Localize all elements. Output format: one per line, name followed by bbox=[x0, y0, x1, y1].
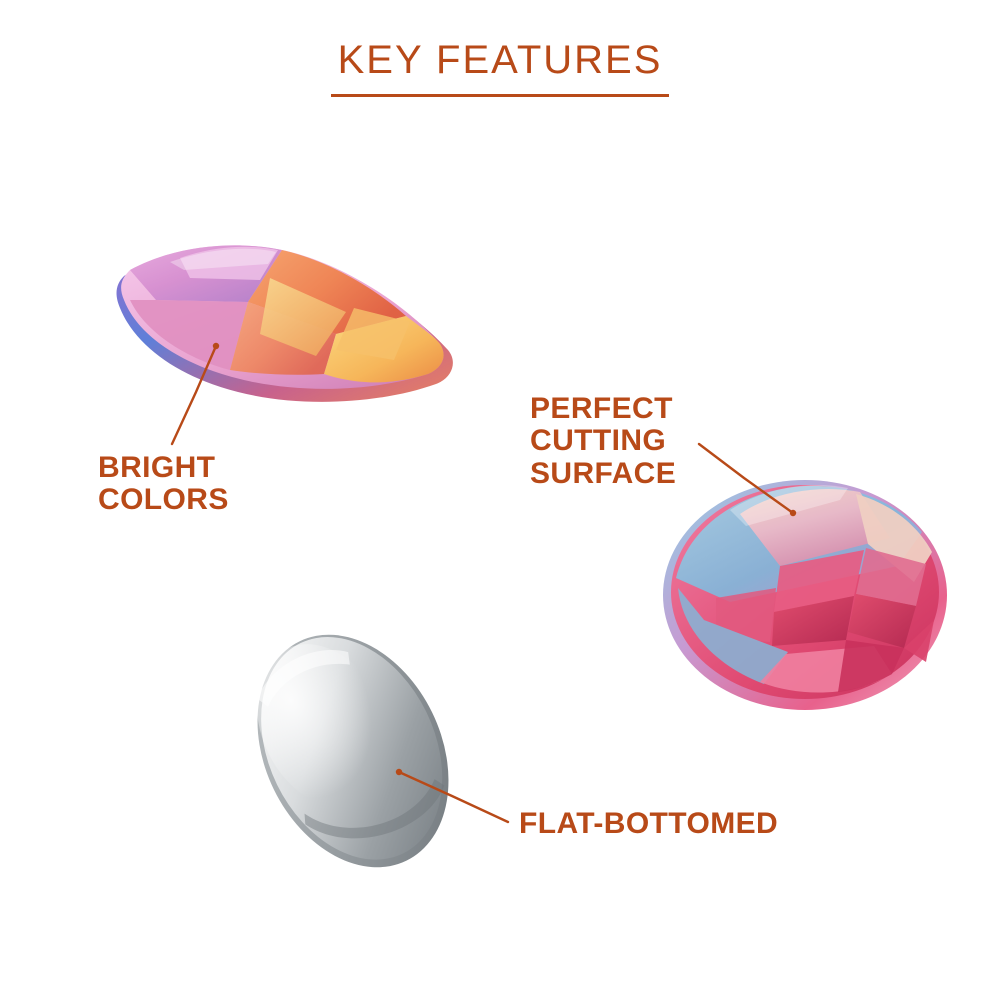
round-gem-image bbox=[660, 470, 950, 720]
teardrop-gem-image bbox=[110, 238, 460, 418]
page-title: KEY FEATURES bbox=[0, 40, 1000, 80]
callout-perfect-cutting-surface: PERFECT CUTTING SURFACE bbox=[530, 393, 676, 490]
callout-bright-colors: BRIGHT COLORS bbox=[98, 452, 229, 517]
page-title-block: KEY FEATURES bbox=[0, 40, 1000, 97]
callout-flat-bottomed: FLAT-BOTTOMED bbox=[519, 808, 778, 840]
title-underline-rule bbox=[331, 94, 669, 97]
flat-back-gem-image bbox=[238, 616, 468, 886]
product-feature-infographic: KEY FEATURES bbox=[0, 0, 1000, 1000]
